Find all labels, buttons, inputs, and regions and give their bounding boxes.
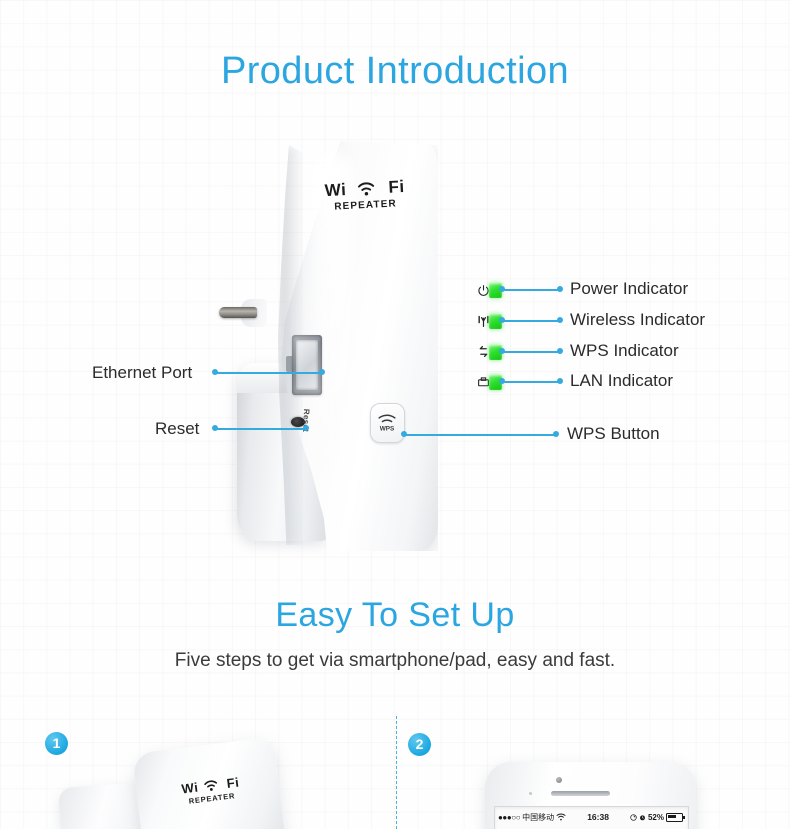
callout-dot-wps-button-end: [553, 431, 559, 437]
status-bar-time: 16:38: [566, 812, 630, 822]
callout-dot-lan-start: [499, 378, 505, 384]
wifi-repeater-illustration: Wi Fi REPEATER Reset WPS: [215, 135, 475, 565]
callout-line-reset: [216, 428, 306, 430]
phone-status-bar: ●●●○○ 中国移动 16:38 52%: [498, 810, 683, 824]
label-reset: Reset: [155, 419, 199, 439]
battery-icon: [666, 813, 683, 822]
label-lan-indicator: LAN Indicator: [570, 371, 673, 391]
battery-fill: [668, 815, 676, 818]
label-wireless-indicator: Wireless Indicator: [570, 310, 705, 330]
callout-dot-wps-end: [557, 348, 563, 354]
eu-plug-prong-icon: [219, 307, 257, 318]
section-title-easy-to-set-up: Easy To Set Up: [0, 594, 790, 636]
callout-line-wps: [502, 351, 560, 353]
alarm-icon: [639, 814, 646, 821]
brand-fi-text: Fi: [388, 177, 405, 198]
step1-wifi-arc-icon: [202, 776, 219, 793]
brand-wi-text: Wi: [324, 180, 347, 201]
infographic-page: Product Introduction Wi Fi REPEATER: [0, 0, 790, 829]
ethernet-port-inner: [296, 340, 318, 390]
callout-line-wireless: [502, 320, 560, 322]
label-wps-button: WPS Button: [567, 424, 660, 444]
phone-earpiece-speaker: [551, 791, 610, 796]
callout-dot-lan-end: [557, 378, 563, 384]
battery-percent-text: 52%: [648, 813, 664, 822]
wifi-icon: [556, 813, 566, 821]
page-title-product-introduction: Product Introduction: [0, 48, 790, 94]
step-badge-1: 1: [45, 732, 68, 755]
label-ethernet-port: Ethernet Port: [92, 363, 192, 383]
callout-dot-wireless-start: [499, 317, 505, 323]
carrier-name: 中国移动: [522, 812, 554, 823]
step1-brand-fi-text: Fi: [226, 775, 240, 791]
callout-line-wps-button: [404, 434, 556, 436]
wps-button-icon: WPS: [375, 411, 399, 433]
callout-line-lan: [502, 381, 560, 383]
label-wps-indicator: WPS Indicator: [570, 341, 679, 361]
status-bar-right: 52%: [630, 813, 683, 822]
callout-dot-wps-start: [499, 348, 505, 354]
signal-dots-icon: ●●●○○: [498, 813, 520, 822]
callout-dot-wireless-end: [557, 317, 563, 323]
step1-brand-wi-text: Wi: [181, 780, 199, 797]
rotation-lock-icon: [630, 814, 637, 821]
svg-text:WPS: WPS: [380, 425, 395, 432]
status-bar-left: ●●●○○ 中国移动: [498, 812, 566, 823]
callout-dot-ethernet-end: [319, 369, 325, 375]
label-power-indicator: Power Indicator: [570, 279, 688, 299]
callout-dot-power-start: [499, 286, 505, 292]
callout-dot-power-end: [557, 286, 563, 292]
phone-proximity-sensor-icon: [529, 792, 532, 795]
callout-line-ethernet: [216, 372, 322, 374]
callout-dot-reset-end: [303, 425, 309, 431]
steps-divider: [396, 716, 397, 829]
phone-front-camera-icon: [556, 777, 562, 783]
device-brand-logo: Wi Fi REPEATER: [322, 177, 408, 213]
step-badge-2: 2: [408, 733, 431, 756]
section-subtitle-setup: Five steps to get via smartphone/pad, ea…: [0, 650, 790, 672]
callout-line-power: [502, 289, 560, 291]
wifi-arc-icon: [356, 177, 376, 197]
battery-cap: [683, 816, 685, 819]
callout-dot-wps-button-start: [401, 431, 407, 437]
